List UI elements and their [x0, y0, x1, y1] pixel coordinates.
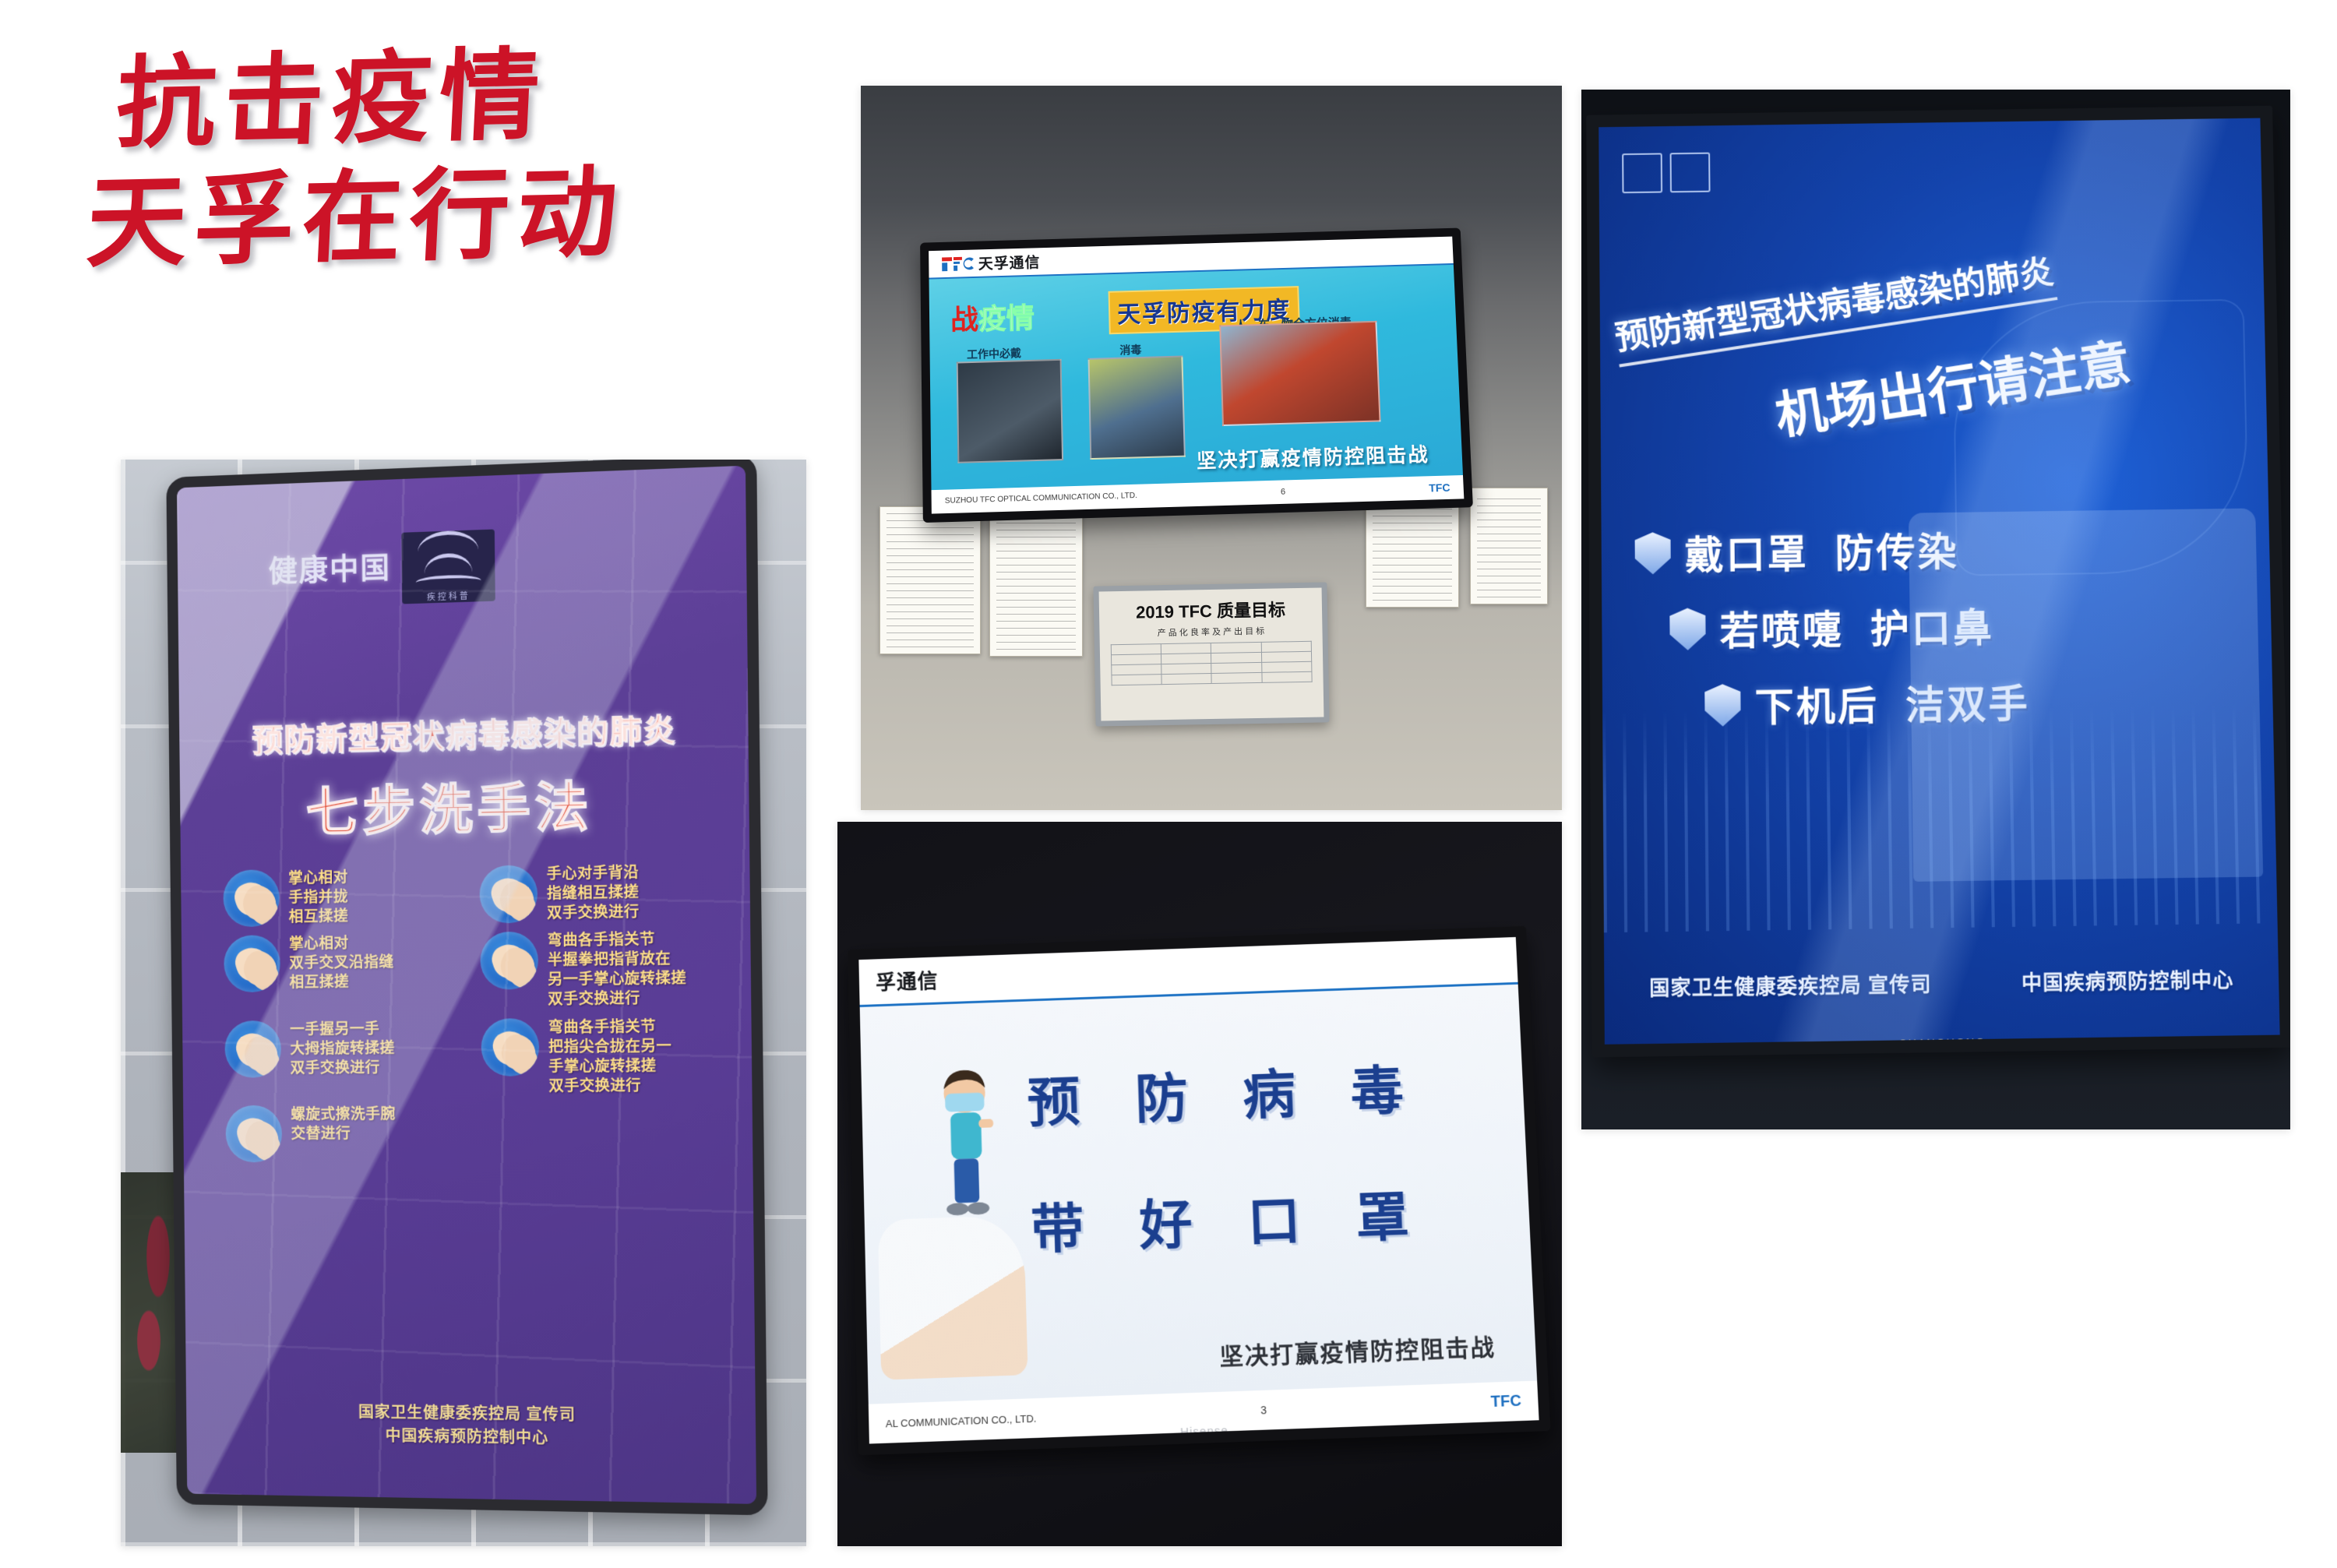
handwash-step-text: 一手握另一手大拇指旋转揉搓双手交换进行: [290, 1019, 395, 1078]
handwash-step-text: 螺旋式擦洗手腕交替进行: [291, 1105, 396, 1143]
steps-row: 螺旋式擦洗手腕交替进行: [225, 1103, 740, 1162]
tv-brand-label: CHANGHONG: [1898, 1036, 1986, 1050]
handwash-step-7: 螺旋式擦洗手腕交替进行: [225, 1105, 471, 1162]
poster-title-line2: 天孚在行动: [84, 159, 758, 274]
slide-tfc-epidemic: 天孚通信 战疫情 天孚防疫有力度 工作中必戴 消毒 人、车、物全方位消毒 坚决打…: [929, 237, 1464, 514]
slide-zhan-white: 疫情: [978, 301, 1035, 335]
led-logo-group: [1622, 153, 1710, 194]
poster-title: 抗击疫情 天孚在行动: [117, 47, 756, 267]
healthy-china-icon: [1622, 153, 1662, 194]
slide-photo-caption: 消毒: [1119, 342, 1141, 358]
healthy-china-logo: 健康中国 疾控科普: [268, 522, 500, 615]
slide-zhan-red: 战: [950, 303, 978, 336]
slide-big-line1: 预 防 病 毒: [1026, 1047, 1425, 1137]
tfc-logo-cn: 天孚通信: [978, 251, 1041, 273]
slide-footer-company: SUZHOU TFC OPTICAL COMMUNICATION CO., LT…: [945, 492, 1137, 506]
hand-with-pen-icon: [878, 1214, 1028, 1379]
photo-kiosk-handwashing: 健康中国 疾控科普 预防新型冠状病毒感染的肺炎 七步洗手法 掌心相对手指并拢: [121, 460, 806, 1546]
led-bullet-left: 戴口罩: [1684, 533, 1808, 578]
handwash-step-2: 手心对手背沿指缝相互揉搓双手交换进行: [479, 862, 732, 925]
cdc-book-icon: 疾控科普: [401, 529, 495, 604]
slide-prevent-virus: 孚通信 预 防 病 毒 带 好 口 罩: [858, 937, 1539, 1444]
handwash-step-text: 手心对手背沿指缝相互揉搓双手交换进行: [547, 863, 640, 924]
hands-icon: [224, 935, 280, 992]
handwash-step-3: 掌心相对双手交叉沿指缝相互揉搓: [224, 932, 470, 1013]
handwash-step-6: 弯曲各手指关节把指尖合拢在另一手掌心旋转揉搓双手交换进行: [481, 1016, 734, 1096]
hands-icon: [225, 1105, 282, 1162]
slide-footer-page: 3: [1260, 1404, 1267, 1417]
led-bullet-left: 若喷嚏: [1719, 608, 1844, 654]
handwash-step-4: 弯曲各手指关节半握拳把指背放在另一手掌心旋转揉搓双手交换进行: [480, 929, 733, 1011]
tfc-logo-cn: 孚通信: [876, 966, 939, 996]
quality-target-board: 2019 TFC 质量目标 产 品 化 良 率 及 产 出 目 标: [1093, 582, 1329, 726]
slide-slogan: 坚决打赢疫情防控阻击战: [1219, 1327, 1496, 1372]
slide-body: 战疫情 天孚防疫有力度 工作中必戴 消毒 人、车、物全方位消毒 坚决打赢疫情防控…: [929, 265, 1463, 490]
handwash-step-text: 弯曲各手指关节把指尖合拢在另一手掌心旋转揉搓双手交换进行: [548, 1017, 672, 1096]
led-credit-right: 中国疾病预防控制中心: [2022, 964, 2234, 996]
arc-shape: [418, 530, 478, 551]
led-display: 预防新型冠状病毒感染的肺炎 机场出行请注意 戴口罩防传染 若喷嚏护口鼻 下机后洁…: [1586, 106, 2290, 1058]
hands-icon: [481, 1018, 539, 1076]
quality-target-board-sub: 产 品 化 良 率 及 产 出 目 标: [1099, 621, 1322, 640]
wall-tv-top: 天孚通信 战疫情 天孚防疫有力度 工作中必戴 消毒 人、车、物全方位消毒 坚决打…: [920, 228, 1473, 523]
shield-icon: [1669, 608, 1706, 650]
kiosk-credit: 国家卫生健康委疾控局 宣传司 中国疾病预防控制中心: [186, 1399, 756, 1453]
slide-zhan-title: 战疫情: [950, 295, 1035, 337]
boy-with-mask-icon: [921, 1065, 1011, 1226]
hands-icon: [479, 865, 538, 923]
handwash-step-5: 一手握另一手大拇指旋转揉搓双手交换进行: [224, 1018, 471, 1098]
slide-footer-logo: TFC: [1429, 481, 1450, 494]
wall-notice-paper: [879, 506, 981, 654]
wall-notice-paper: [989, 513, 1083, 657]
slide-body: 预 防 病 毒 带 好 口 罩 坚决打赢疫情防控阻击战: [860, 985, 1537, 1404]
poster-canvas: 抗击疫情 天孚在行动 健康中国 疾控科普 预防新型冠状病毒感染的肺炎 七步洗手法: [0, 0, 2337, 1568]
photo-airport-led-screen: 预防新型冠状病毒感染的肺炎 机场出行请注意 戴口罩防传染 若喷嚏护口鼻 下机后洁…: [1581, 90, 2290, 1129]
arc-shape: [424, 552, 472, 574]
slide-footer-page: 6: [1281, 487, 1286, 496]
tfc-logo: 天孚通信: [942, 251, 1041, 274]
led-credit-left: 国家卫生健康委疾控局 宣传司: [1649, 968, 1932, 1002]
hands-icon: [480, 932, 538, 990]
kiosk-subheadline: 七步洗手法: [305, 763, 594, 847]
tfc-logo-icon: [942, 255, 975, 272]
slide-photo-office: [957, 359, 1064, 463]
slide-photo-truck: [1219, 321, 1381, 426]
slide-photo-disinfect: [1088, 356, 1186, 460]
steps-row: 一手握另一手大拇指旋转揉搓双手交换进行 弯曲各手指关节把指尖合拢在另一手掌心旋转…: [224, 1016, 739, 1098]
photo-office-wall-tv: 2019 TFC 质量目标 产 品 化 良 率 及 产 出 目 标: [861, 86, 1562, 810]
wall-notice-paper: [1470, 488, 1548, 604]
handwash-step-text: 弯曲各手指关节半握拳把指背放在另一手掌心旋转揉搓双手交换进行: [548, 929, 687, 1010]
kiosk-display-frame: 健康中国 疾控科普 预防新型冠状病毒感染的肺炎 七步洗手法 掌心相对手指并拢: [166, 460, 767, 1515]
slide-footer-logo: TFC: [1490, 1392, 1521, 1411]
handwash-step-1: 掌心相对手指并拢相互揉搓: [223, 866, 469, 928]
led-credit: 国家卫生健康委疾控局 宣传司 中国疾病预防控制中心: [1604, 964, 2279, 1002]
handwash-step-text: 掌心相对双手交叉沿指缝相互揉搓: [289, 933, 394, 992]
hands-icon: [224, 1020, 281, 1078]
photo-hisense-tv: 孚通信 预 防 病 毒 带 好 口 罩: [837, 822, 1562, 1546]
hisense-tv: 孚通信 预 防 病 毒 带 好 口 罩: [848, 926, 1550, 1455]
city-skyline-illustration: [1602, 700, 2278, 932]
steps-row: 掌心相对手指并拢相互揉搓 手心对手背沿指缝相互揉搓双手交换进行: [223, 862, 737, 928]
cdc-book-icon: [1670, 153, 1711, 193]
handwash-step-text: 掌心相对手指并拢相互揉搓: [288, 869, 348, 928]
healthy-china-logo-text: 健康中国: [268, 553, 391, 588]
hands-icon: [223, 869, 280, 927]
book-shape: [416, 574, 481, 589]
steps-row: 掌心相对双手交叉沿指缝相互揉搓 弯曲各手指关节半握拳把指背放在另一手掌心旋转揉搓…: [224, 928, 738, 1013]
quality-target-table: [1111, 641, 1312, 685]
slide-slogan: 坚决打赢疫情防控阻击战: [1197, 439, 1430, 474]
poster-title-line1: 抗击疫情: [114, 40, 758, 155]
kiosk-screen: 健康中国 疾控科普 预防新型冠状病毒感染的肺炎 七步洗手法 掌心相对手指并拢: [177, 466, 756, 1504]
led-screen: 预防新型冠状病毒感染的肺炎 机场出行请注意 戴口罩防传染 若喷嚏护口鼻 下机后洁…: [1599, 118, 2279, 1045]
shield-icon: [1634, 532, 1670, 575]
handwash-steps: 掌心相对手指并拢相互揉搓 手心对手背沿指缝相互揉搓双手交换进行 掌心相对双手交叉…: [223, 862, 740, 1170]
quality-target-board-title: 2019 TFC 质量目标: [1099, 588, 1323, 625]
kiosk-headline: 预防新型冠状病毒感染的肺炎: [252, 703, 720, 760]
slide-big-line2: 带 好 口 罩: [1030, 1173, 1431, 1264]
cdc-mark-sub: 疾控科普: [427, 590, 471, 604]
